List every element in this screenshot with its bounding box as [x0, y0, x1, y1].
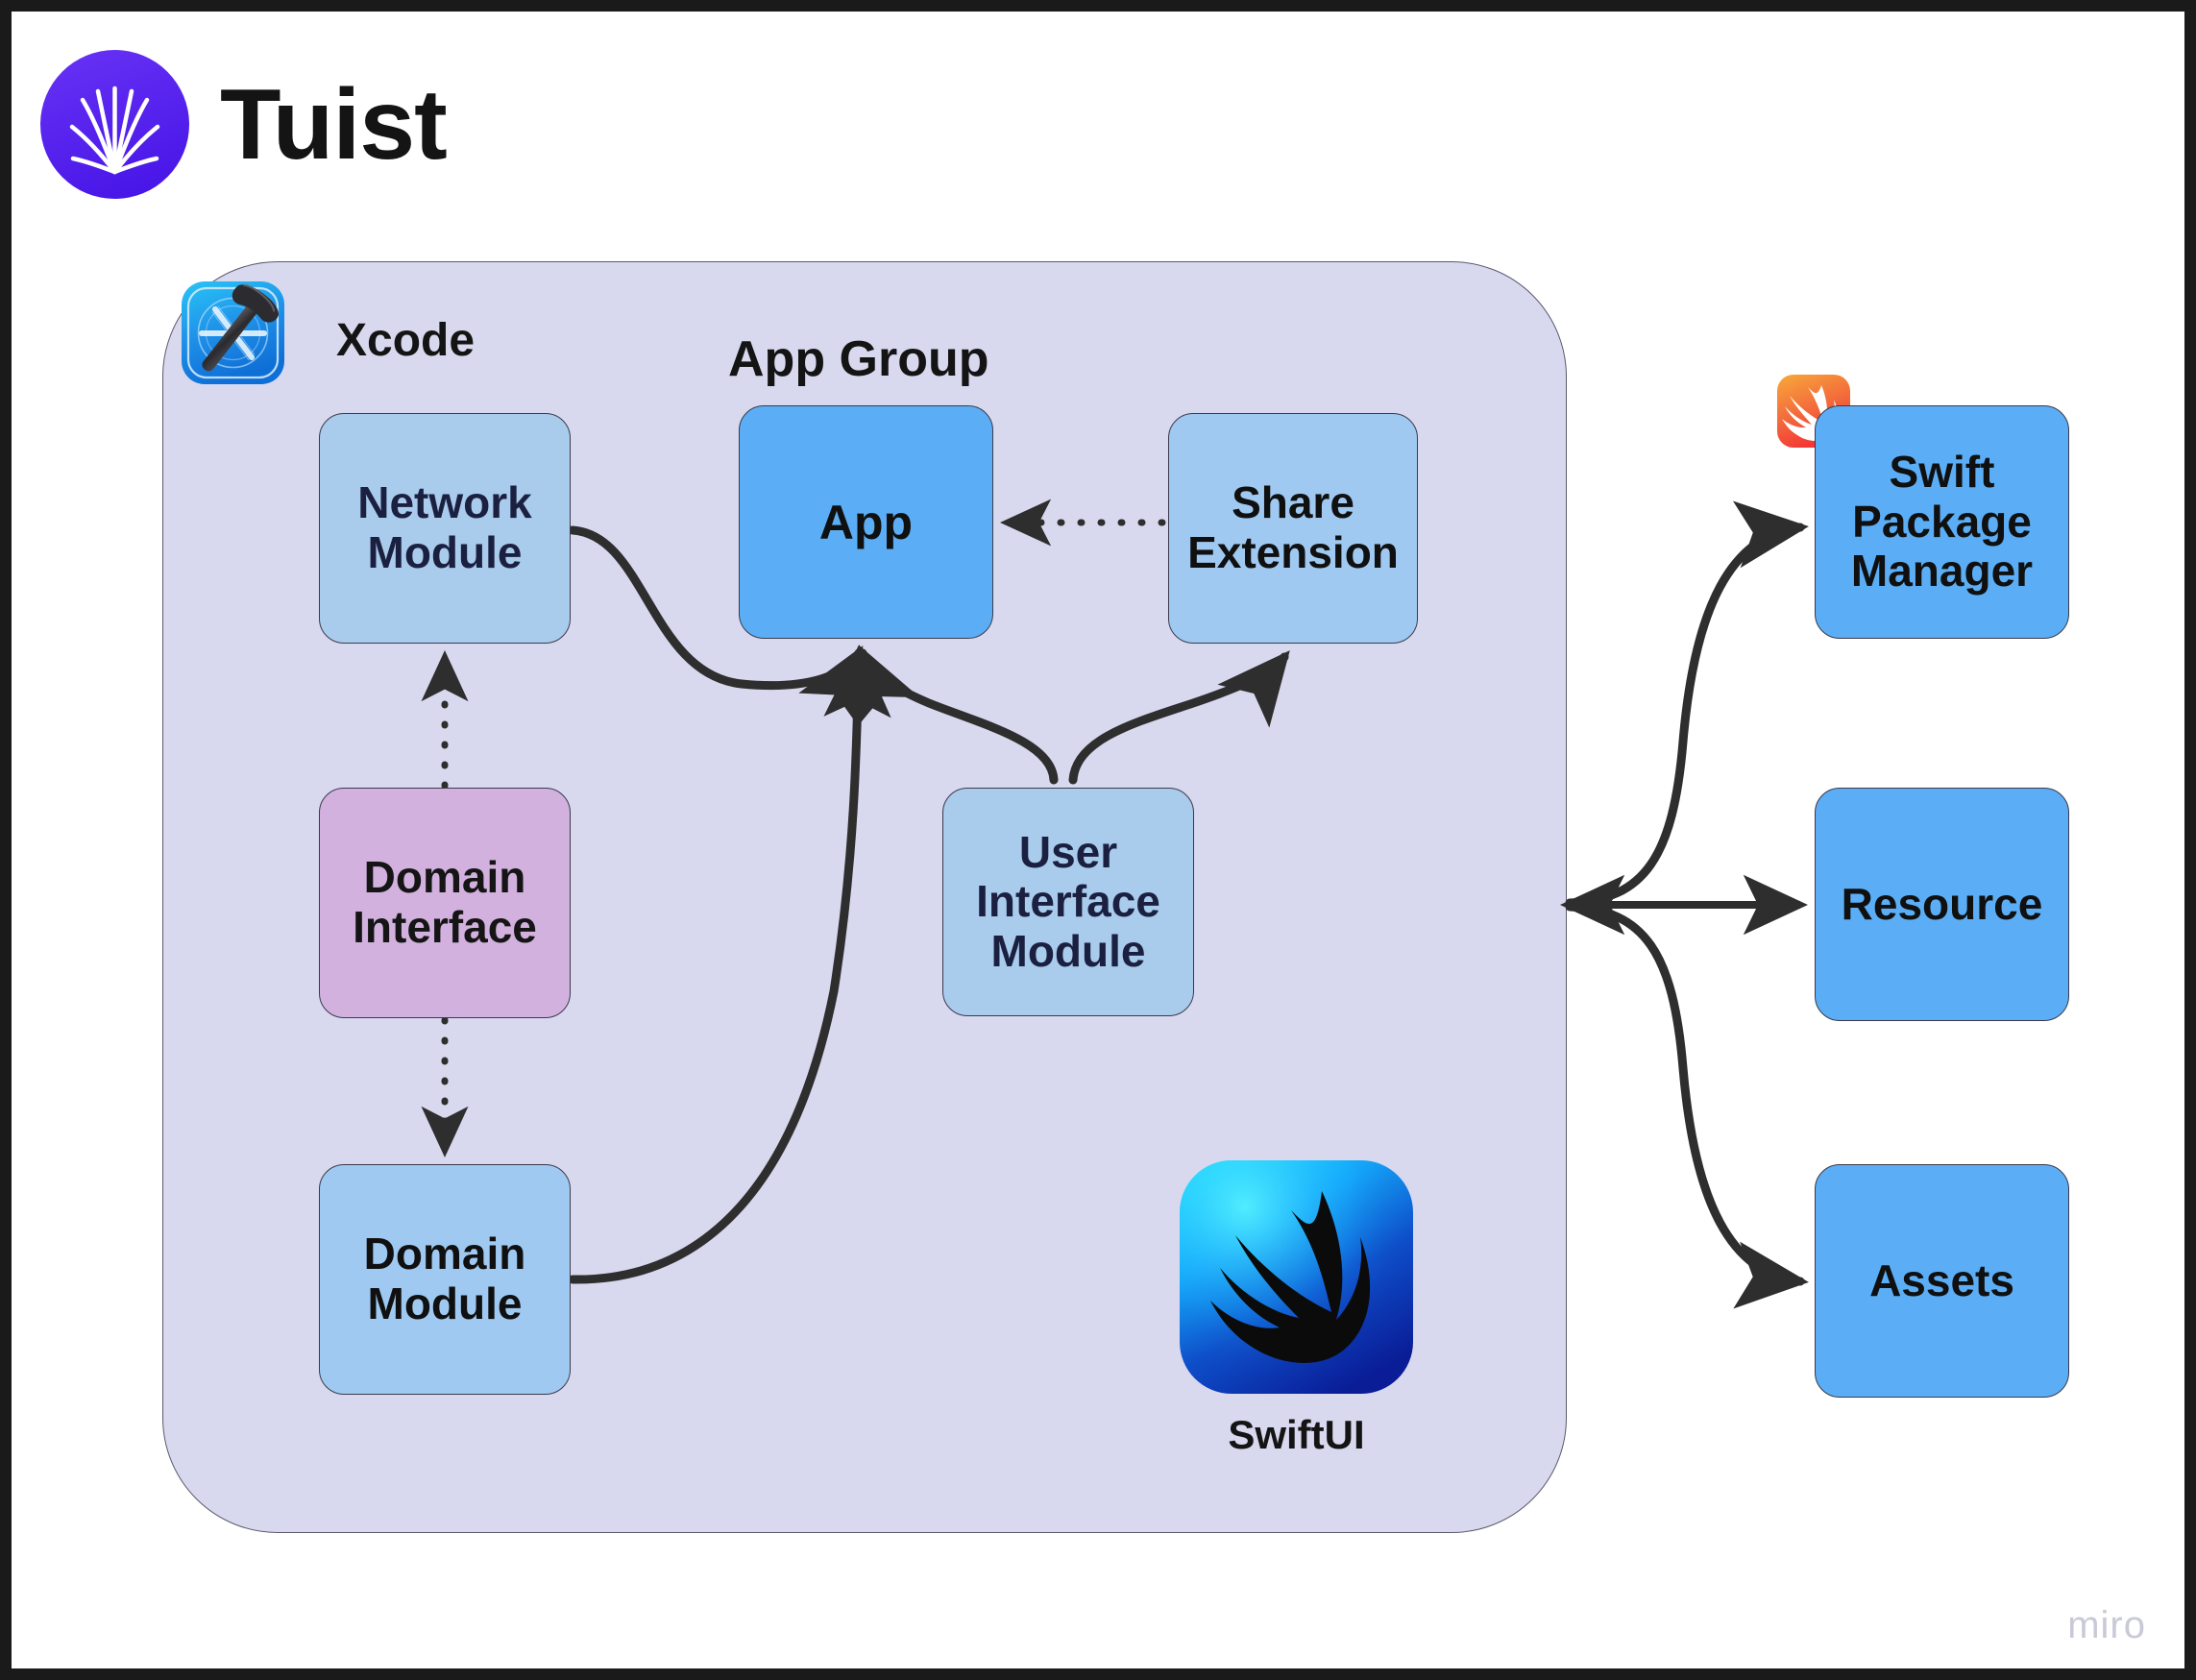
swiftui-label: SwiftUI	[1180, 1412, 1413, 1458]
node-domain-interface[interactable]: Domain Interface	[319, 788, 571, 1018]
node-domain-module[interactable]: Domain Module	[319, 1164, 571, 1395]
node-swift-package-manager[interactable]: Swift Package Manager	[1815, 405, 2069, 639]
swiftui-icon	[1180, 1160, 1413, 1394]
node-resource[interactable]: Resource	[1815, 788, 2069, 1021]
tuist-fan-logo-icon	[40, 50, 189, 199]
miro-watermark: miro	[2067, 1604, 2146, 1647]
app-group-label: App Group	[728, 330, 989, 388]
diagram-canvas: Tuist	[12, 12, 2184, 1668]
edge-xcode-to-assets	[1570, 907, 1800, 1281]
node-network-module[interactable]: Network Module	[319, 413, 571, 644]
xcode-app-icon	[173, 265, 301, 393]
brand-header: Tuist	[40, 50, 447, 199]
xcode-container-label: Xcode	[336, 314, 475, 367]
node-share-extension[interactable]: Share Extension	[1168, 413, 1418, 644]
edge-xcode-to-spm	[1570, 527, 1800, 903]
node-user-interface-module[interactable]: User Interface Module	[942, 788, 1194, 1016]
node-app[interactable]: App	[739, 405, 993, 639]
node-assets[interactable]: Assets	[1815, 1164, 2069, 1398]
page-title: Tuist	[220, 75, 447, 175]
